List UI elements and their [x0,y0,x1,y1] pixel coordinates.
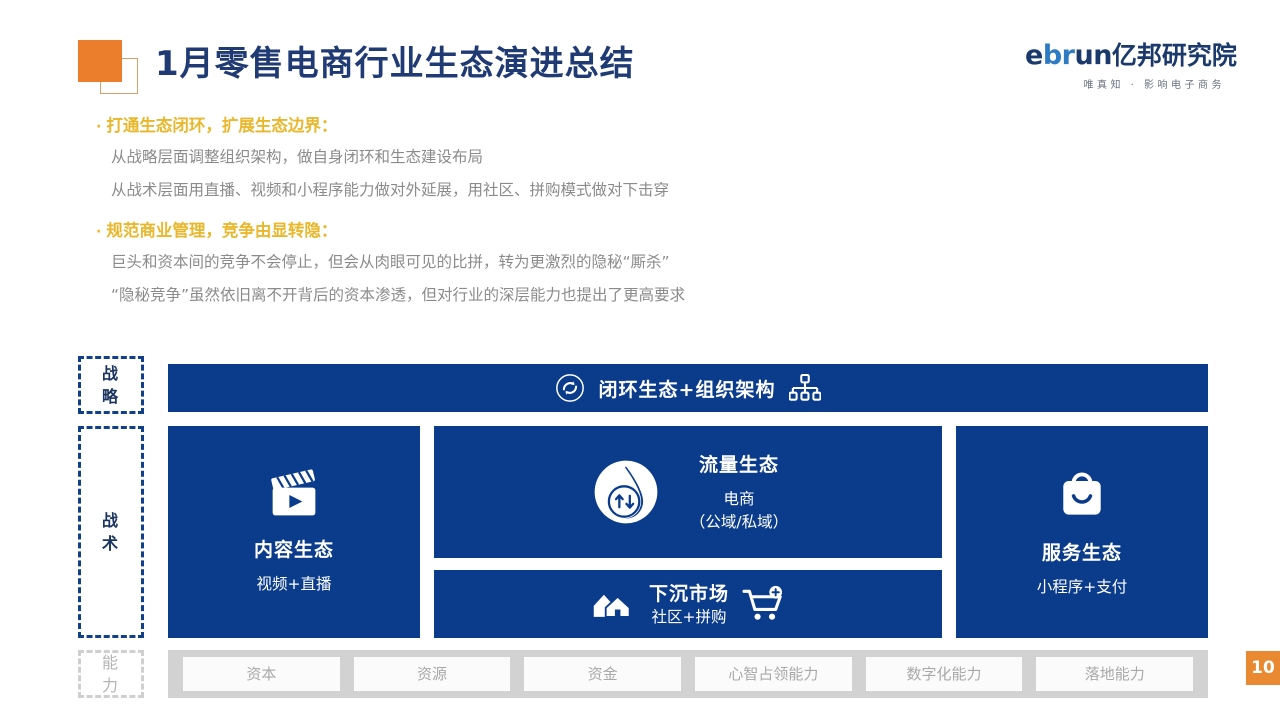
capability-chip: 心智占领能力 [695,657,852,691]
page-title: 1月零售电商行业生态演进总结 [155,36,635,85]
logo-letter-e: e [1025,40,1043,71]
middle-column: 流量生态 电商 （公域/私域） 下沉市场 社区+拼购 [434,426,942,638]
bullet-1-line-1: 从战略层面调整组织架构，做自身闭环和生态建设布局 [96,141,1196,174]
card-content-subtitle: 视频+直播 [257,573,332,596]
axis-label-strategy-char1: 战 [102,362,120,385]
card-traffic-text: 流量生态 电商 （公域/私域） [690,450,788,534]
org-chart-icon [789,374,821,402]
card-sinking-text: 下沉市场 社区+拼购 [649,579,729,629]
axis-label-capability-char2: 力 [102,674,120,697]
bullet-section-1: ·打通生态闭环，扩展生态边界： 从战略层面调整组织架构，做自身闭环和生态建设布局… [96,112,1196,207]
card-service-title: 服务生态 [1042,538,1122,565]
bullet-sections: ·打通生态闭环，扩展生态边界： 从战略层面调整组织架构，做自身闭环和生态建设布局… [96,112,1196,312]
axis-label-strategy: 战 略 [78,356,144,414]
card-sinking-title: 下沉市场 [649,579,729,606]
slide-header: 1月零售电商行业生态演进总结 ebrun亿邦研究院 唯真知 · 影响电子商务 [0,0,1280,110]
axis-label-tactic-char2: 术 [102,532,120,555]
logo-letters-br: br [1043,40,1075,71]
card-traffic-title: 流量生态 [690,450,788,477]
shopping-bag-smile-icon [1053,466,1111,524]
logo-wordmark: ebrun亿邦研究院 [1025,40,1225,72]
axis-label-tactic: 战 术 [78,426,144,638]
water-drop-arrows-icon [588,454,664,530]
card-content-title: 内容生态 [254,535,334,562]
axis-label-strategy-char2: 略 [102,385,120,408]
bullet-heading-1-text: 打通生态闭环，扩展生态边界： [106,116,337,135]
bullet-2-line-2: “隐秘竞争”虽然依旧离不开背后的资本渗透，但对行业的深层能力也提出了更高要求 [96,279,1196,312]
logo-tagline: 唯真知 · 影响电子商务 [1025,76,1225,91]
capability-chip: 资金 [524,657,681,691]
capability-chip: 落地能力 [1036,657,1193,691]
bullet-dot-icon: · [96,119,106,135]
capability-chip: 数字化能力 [866,657,1023,691]
accent-square-filled [78,40,122,82]
houses-icon [591,587,637,621]
axis-label-capability: 能 力 [78,650,144,698]
logo-chinese-name: 亿邦研究院 [1112,41,1237,70]
loop-cycle-icon [555,373,585,403]
strategy-bar-label: 闭环生态+组织架构 [599,375,776,402]
bullet-section-2: ·规范商业管理，竞争由显转隐： 巨头和资本间的竞争不会停止，但会从肉眼可见的比拼… [96,217,1196,312]
title-accent-marks [78,40,140,92]
card-traffic-subtitle-line1: 电商 [690,488,788,511]
page-number-badge: 10 [1246,651,1280,685]
card-sinking-market: 下沉市场 社区+拼购 [434,570,942,638]
capability-chip: 资源 [354,657,511,691]
strategy-bar: 闭环生态+组织架构 [168,364,1208,412]
clapperboard-play-icon [263,469,325,521]
ebrun-logo: ebrun亿邦研究院 唯真知 · 影响电子商务 [1025,40,1225,96]
card-traffic-ecosystem: 流量生态 电商 （公域/私域） [434,426,942,558]
bullet-2-line-1: 巨头和资本间的竞争不会停止，但会从肉眼可见的比拼，转为更激烈的隐秘“厮杀” [96,246,1196,279]
card-traffic-subtitle-line2: （公域/私域） [690,511,788,534]
card-service-subtitle: 小程序+支付 [1037,576,1128,599]
card-content-ecosystem: 内容生态 视频+直播 [168,426,420,638]
capability-chip: 资本 [183,657,340,691]
tactic-row: 内容生态 视频+直播 流量生态 电商 [168,426,1208,638]
axis-label-tactic-char1: 战 [102,509,120,532]
bullet-heading-2-text: 规范商业管理，竞争由显转隐： [106,221,337,240]
bullet-heading-1: ·打通生态闭环，扩展生态边界： [96,112,1196,141]
bullet-heading-2: ·规范商业管理，竞争由显转隐： [96,217,1196,246]
bullet-dot-icon: · [96,224,106,240]
card-sinking-subtitle: 社区+拼购 [649,606,729,629]
axis-label-capability-char1: 能 [102,651,120,674]
shopping-cart-plus-icon [741,585,785,623]
capability-row: 资本 资源 资金 心智占领能力 数字化能力 落地能力 [168,650,1208,698]
logo-letters-un: un [1074,40,1111,71]
bullet-1-line-2: 从战术层面用直播、视频和小程序能力做对外延展，用社区、拼购模式做对下击穿 [96,174,1196,207]
card-service-ecosystem: 服务生态 小程序+支付 [956,426,1208,638]
ecosystem-diagram: 战 略 战 术 能 力 闭环生态+组织架构 [78,350,1208,700]
